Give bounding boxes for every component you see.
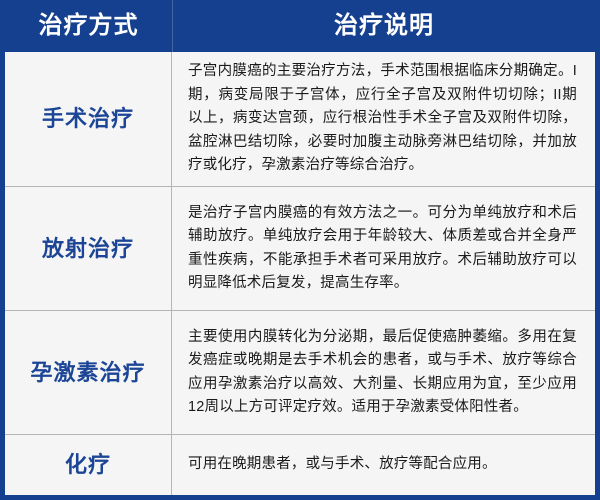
- column-header-method: 治疗方式: [5, 0, 173, 52]
- description-text: 主要使用内膜转化为分泌期，最后促使癌肿萎缩。多用在复发癌症或晚期是去手术机会的患…: [188, 326, 577, 420]
- cell-description-chemotherapy: 可用在晚期患者，或与手术、放疗等配合应用。: [172, 435, 595, 495]
- method-label: 化疗: [65, 451, 111, 479]
- description-text: 子宫内膜癌的主要治疗方法，手术范围根据临床分期确定。I期，病变局限于子宫体，应行…: [188, 60, 577, 177]
- cell-description-radiation: 是治疗子宫内膜癌的有效方法之一。可分为单纯放疗和术后辅助放疗。单纯放疗会用于年龄…: [172, 187, 595, 310]
- method-label: 放射治疗: [42, 235, 134, 263]
- table-header-row: 治疗方式 治疗说明: [5, 0, 595, 52]
- method-label: 孕激素治疗: [30, 359, 145, 387]
- treatment-table: 治疗方式 治疗说明 手术治疗 子宫内膜癌的主要治疗方法，手术范围根据临床分期确定…: [0, 0, 600, 500]
- description-text: 可用在晚期患者，或与手术、放疗等配合应用。: [188, 453, 577, 476]
- cell-method-chemotherapy: 化疗: [5, 435, 172, 495]
- column-header-method-label: 治疗方式: [39, 14, 139, 38]
- cell-method-surgery: 手术治疗: [5, 52, 172, 186]
- table-body: 手术治疗 子宫内膜癌的主要治疗方法，手术范围根据临床分期确定。I期，病变局限于子…: [5, 52, 595, 495]
- table-row: 手术治疗 子宫内膜癌的主要治疗方法，手术范围根据临床分期确定。I期，病变局限于子…: [5, 52, 595, 187]
- method-label: 手术治疗: [42, 105, 134, 133]
- table-row: 孕激素治疗 主要使用内膜转化为分泌期，最后促使癌肿萎缩。多用在复发癌症或晚期是去…: [5, 311, 595, 435]
- cell-method-radiation: 放射治疗: [5, 187, 172, 310]
- cell-description-surgery: 子宫内膜癌的主要治疗方法，手术范围根据临床分期确定。I期，病变局限于子宫体，应行…: [172, 52, 595, 186]
- column-header-description-label: 治疗说明: [334, 14, 434, 38]
- cell-method-progestin: 孕激素治疗: [5, 311, 172, 434]
- column-header-description: 治疗说明: [173, 0, 595, 52]
- cell-description-progestin: 主要使用内膜转化为分泌期，最后促使癌肿萎缩。多用在复发癌症或晚期是去手术机会的患…: [172, 311, 595, 434]
- table-row: 化疗 可用在晚期患者，或与手术、放疗等配合应用。: [5, 435, 595, 495]
- description-text: 是治疗子宫内膜癌的有效方法之一。可分为单纯放疗和术后辅助放疗。单纯放疗会用于年龄…: [188, 202, 577, 296]
- table-row: 放射治疗 是治疗子宫内膜癌的有效方法之一。可分为单纯放疗和术后辅助放疗。单纯放疗…: [5, 187, 595, 311]
